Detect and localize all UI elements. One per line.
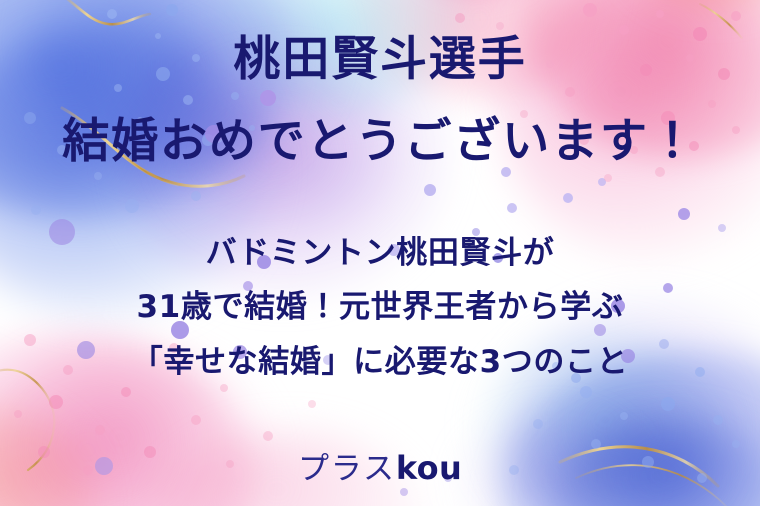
subheadline-line-1: バドミントン桃田賢斗が [0,238,760,269]
brand-name-latin: kou [396,449,462,487]
headline-line-2: 結婚おめでとうございます！ [0,118,760,165]
headline-line-1: 桃田賢斗選手 [0,36,760,83]
title-card: 桃田賢斗選手 結婚おめでとうございます！ バドミントン桃田賢斗が 31歳で結婚！… [0,0,760,506]
brand-name-japanese: プラス [298,451,396,487]
subheadline-line-2: 31歳で結婚！元世界王者から学ぶ [0,292,760,323]
text-content: 桃田賢斗選手 結婚おめでとうございます！ バドミントン桃田賢斗が 31歳で結婚！… [0,0,760,506]
subheadline-line-3: 「幸せな結婚」に必要な3つのこと [0,347,760,378]
brand-logo: プラスkou [0,452,760,485]
